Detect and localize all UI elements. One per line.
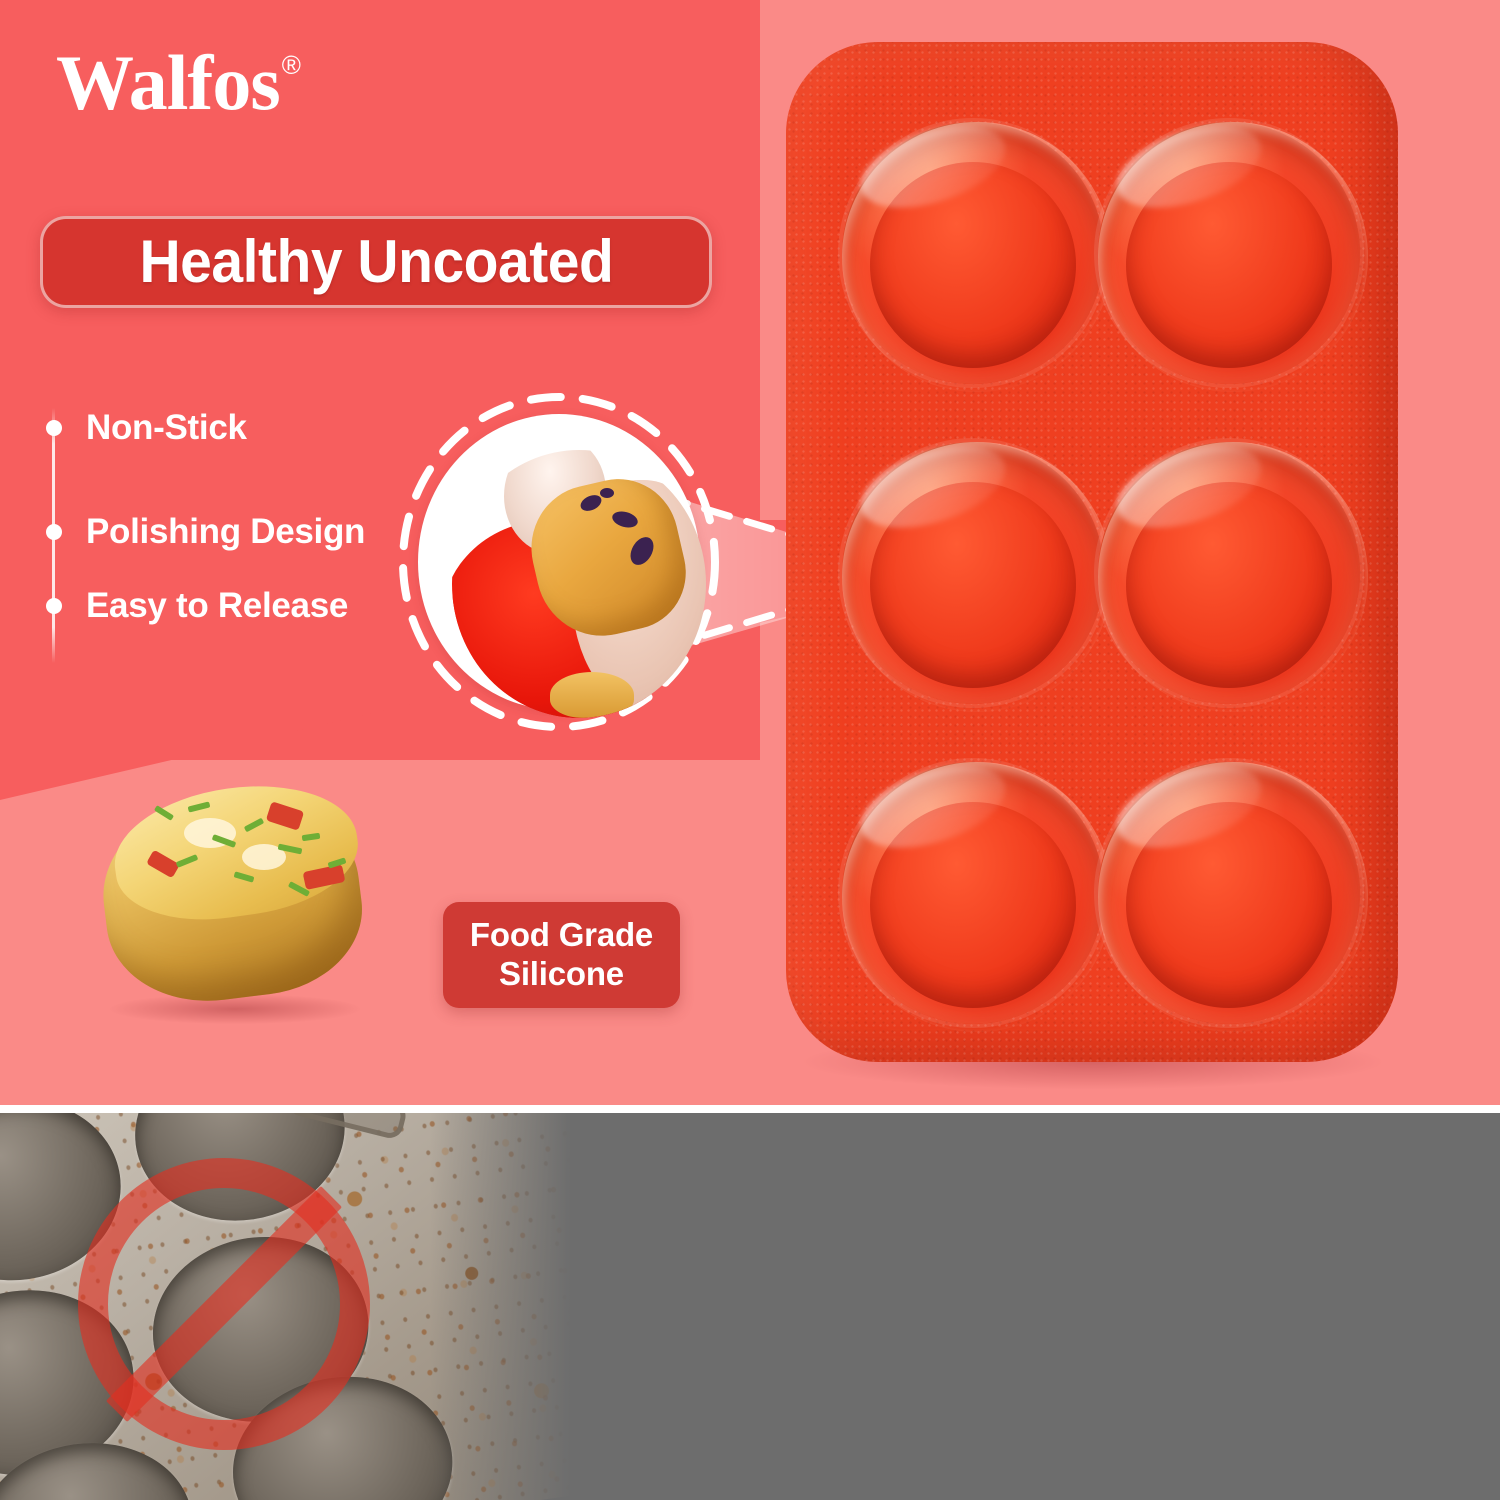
food-grade-silicone-badge: Food GradeSilicone (443, 902, 680, 1008)
headline-badge: Healthy Uncoated (40, 216, 712, 308)
registered-trademark-icon: ® (282, 50, 301, 81)
prohibition-sign-icon (78, 1158, 370, 1450)
silicone-pan-body (786, 42, 1398, 1062)
food-grade-line-2: Silicone (499, 955, 624, 992)
feature-item-polishing-design: Polishing Design (28, 512, 365, 552)
product-infographic: Walfos ® Healthy Uncoated Polishing Desi… (0, 0, 1500, 1500)
second-muffin-photo-part (550, 672, 634, 718)
headline-text: Healthy Uncoated (139, 232, 613, 292)
callout-photo (452, 450, 706, 718)
comparison-panel: Others Difficult to Clean. (0, 1113, 1500, 1500)
bullet-dot-icon (46, 420, 62, 436)
brand-wordmark: Walfos (56, 44, 280, 122)
pan-cavity (842, 762, 1104, 1024)
feature-item-non-stick: Non-Stick (28, 408, 247, 448)
egg-muffin-shadow (110, 994, 360, 1024)
section-separator (0, 1105, 1500, 1113)
pan-cavity (1098, 762, 1360, 1024)
bullet-dot-icon (46, 598, 62, 614)
feature-label: Easy to Release (86, 586, 348, 626)
food-grade-badge-text: Food GradeSilicone (470, 916, 653, 994)
feature-list: Polishing Design Easy to Release Non-Sti… (28, 408, 448, 668)
feature-label: Non-Stick (86, 408, 247, 448)
magnifier-callout (398, 392, 720, 752)
feature-item-easy-to-release: Easy to Release (28, 586, 348, 626)
brand-logo: Walfos ® (56, 44, 301, 122)
callout-photo-ring (418, 414, 700, 710)
food-grade-line-1: Food Grade (470, 916, 653, 953)
pan-cavity (842, 442, 1104, 704)
pan-cavity (1098, 442, 1360, 704)
silicone-muffin-pan-image (770, 42, 1410, 1102)
top-feature-panel: Walfos ® Healthy Uncoated Polishing Desi… (0, 0, 1500, 1105)
pan-cavity (842, 122, 1104, 384)
blueberry-icon (600, 488, 614, 498)
pan-cavity (1098, 122, 1360, 384)
photo-edge-fade (430, 1113, 600, 1500)
egg-muffin-photo (92, 782, 384, 1032)
feature-label: Polishing Design (86, 512, 365, 552)
bullet-dot-icon (46, 524, 62, 540)
